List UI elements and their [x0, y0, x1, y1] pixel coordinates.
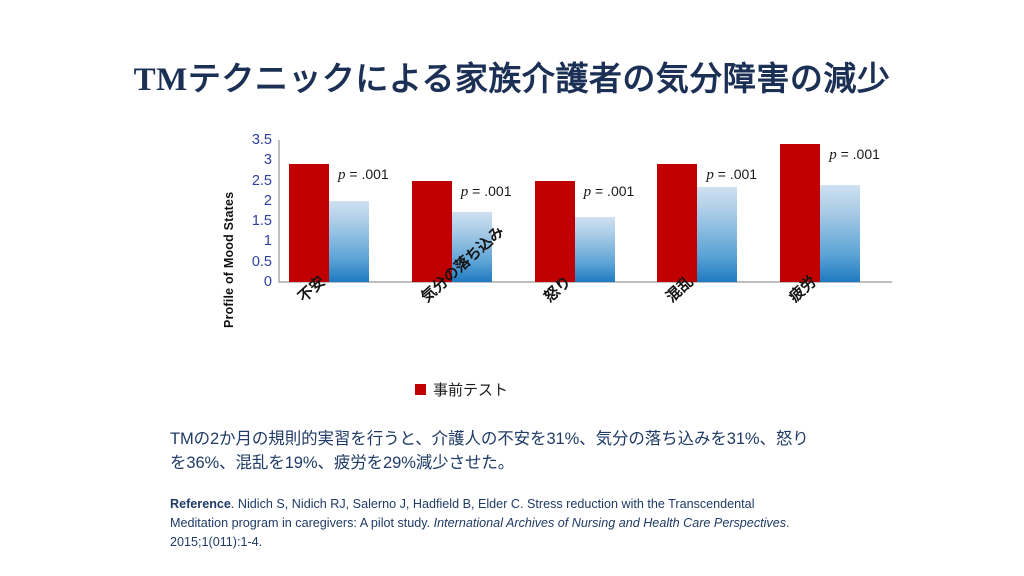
p-value-label: p = .001 [584, 183, 635, 201]
bar-post-test [697, 187, 737, 282]
p-value-label: p = .001 [338, 166, 389, 184]
legend-label-pre-test: 事前テスト [433, 379, 508, 400]
y-tick-label: 3.5 [234, 133, 272, 148]
legend-swatch-pre-test [415, 384, 426, 395]
plot-area [278, 140, 892, 282]
bar-group [657, 140, 737, 282]
chart-legend: 事前テスト [415, 379, 508, 400]
y-tick-label: 3 [234, 153, 272, 168]
y-tick-label: 2 [234, 194, 272, 209]
p-value-label: p = .001 [461, 183, 512, 201]
p-value-label: p = .001 [706, 166, 757, 184]
y-tick-label: 2.5 [234, 173, 272, 188]
bar-group [289, 140, 369, 282]
y-axis-tick-labels: 3.532.521.510.50 [234, 128, 272, 283]
bar-pre-test [289, 164, 329, 282]
page-title: TMテクニックによる家族介護者の気分障害の減少 [0, 52, 1024, 100]
bar-group [535, 140, 615, 282]
y-tick-label: 1 [234, 234, 272, 249]
summary-paragraph: TMの2か月の規則的実習を行うと、介護人の不安を31%、気分の落ち込みを31%、… [170, 428, 810, 476]
bar-post-test [820, 185, 860, 282]
reference-citation: Reference. Nidich S, Nidich RJ, Salerno … [170, 495, 815, 552]
bar-pre-test [657, 164, 697, 282]
bar-pre-test [535, 181, 575, 282]
y-tick-label: 0 [234, 275, 272, 290]
reference-label: Reference [170, 497, 231, 511]
bar-pre-test [780, 144, 820, 282]
bar-chart: Profile of Mood States 3.532.521.510.50 … [210, 128, 900, 413]
y-tick-label: 1.5 [234, 214, 272, 229]
bar-post-test [329, 201, 369, 282]
bar-post-test [575, 217, 615, 282]
y-tick-label: 0.5 [234, 254, 272, 269]
p-value-label: p = .001 [829, 146, 880, 164]
y-axis-line [278, 140, 280, 282]
reference-journal: International Archives of Nursing and He… [434, 516, 786, 530]
